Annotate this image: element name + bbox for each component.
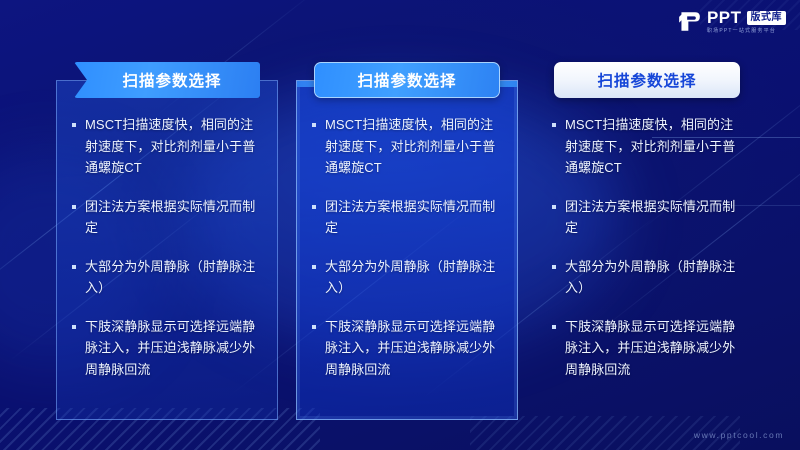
- list-item: 大部分为外周静脉（肘静脉注入）: [312, 256, 504, 299]
- bullet-dot-icon: [312, 325, 316, 329]
- list-item-text: 大部分为外周静脉（肘静脉注入）: [85, 256, 264, 299]
- card-2-header[interactable]: 扫描参数选择: [314, 62, 500, 98]
- card-group: 扫描参数选择 MSCT扫描速度快，相同的注射速度下，对比剂剂量小于普通螺旋CT …: [0, 62, 800, 427]
- card-1-header-title: 扫描参数选择: [112, 69, 221, 91]
- list-item: MSCT扫描速度快，相同的注射速度下，对比剂剂量小于普通螺旋CT: [312, 114, 504, 179]
- bullet-dot-icon: [552, 325, 556, 329]
- list-item-text: 大部分为外周静脉（肘静脉注入）: [565, 256, 744, 299]
- list-item: 下肢深静脉显示可选择远端静脉注入，并压迫浅静脉减少外周静脉回流: [552, 316, 744, 381]
- footer-watermark: www.pptcool.com: [694, 430, 784, 440]
- logo-badge: 版式库: [747, 11, 787, 25]
- list-item: 团注法方案根据实际情况而制定: [552, 196, 744, 239]
- bullet-dot-icon: [312, 205, 316, 209]
- list-item-text: MSCT扫描速度快，相同的注射速度下，对比剂剂量小于普通螺旋CT: [325, 114, 504, 179]
- logo-subtitle: 职场PPT一站式服务平台: [707, 29, 776, 34]
- logo-primary-row: PPT 版式库: [707, 9, 786, 26]
- bullet-dot-icon: [552, 205, 556, 209]
- card-2-header-title: 扫描参数选择: [357, 69, 456, 91]
- bullet-dot-icon: [72, 325, 76, 329]
- list-item-text: 团注法方案根据实际情况而制定: [85, 196, 264, 239]
- card-1: 扫描参数选择 MSCT扫描速度快，相同的注射速度下，对比剂剂量小于普通螺旋CT …: [56, 62, 278, 420]
- list-item-text: 下肢深静脉显示可选择远端静脉注入，并压迫浅静脉减少外周静脉回流: [85, 316, 264, 381]
- list-item-text: MSCT扫描速度快，相同的注射速度下，对比剂剂量小于普通螺旋CT: [565, 114, 744, 179]
- slide-canvas: PPT 版式库 职场PPT一站式服务平台 扫描参数选择 MSCT扫描速度快，相同…: [0, 0, 800, 450]
- list-item: 团注法方案根据实际情况而制定: [72, 196, 264, 239]
- list-item: MSCT扫描速度快，相同的注射速度下，对比剂剂量小于普通螺旋CT: [552, 114, 744, 179]
- card-3-bullet-list: MSCT扫描速度快，相同的注射速度下，对比剂剂量小于普通螺旋CT 团注法方案根据…: [536, 114, 758, 397]
- list-item: 下肢深静脉显示可选择远端静脉注入，并压迫浅静脉减少外周静脉回流: [312, 316, 504, 381]
- ppt-logo-mark-icon: [678, 10, 701, 33]
- bullet-dot-icon: [312, 265, 316, 269]
- card-1-bullet-list: MSCT扫描速度快，相同的注射速度下，对比剂剂量小于普通螺旋CT 团注法方案根据…: [56, 114, 278, 397]
- bullet-dot-icon: [552, 123, 556, 127]
- brand-logo: PPT 版式库 职场PPT一站式服务平台: [678, 9, 786, 34]
- list-item: 下肢深静脉显示可选择远端静脉注入，并压迫浅静脉减少外周静脉回流: [72, 316, 264, 381]
- bullet-dot-icon: [552, 265, 556, 269]
- logo-name: PPT: [707, 9, 742, 26]
- list-item-text: 下肢深静脉显示可选择远端静脉注入，并压迫浅静脉减少外周静脉回流: [565, 316, 744, 381]
- list-item: 团注法方案根据实际情况而制定: [312, 196, 504, 239]
- list-item-text: 下肢深静脉显示可选择远端静脉注入，并压迫浅静脉减少外周静脉回流: [325, 316, 504, 381]
- list-item: 大部分为外周静脉（肘静脉注入）: [552, 256, 744, 299]
- card-2: 扫描参数选择 MSCT扫描速度快，相同的注射速度下，对比剂剂量小于普通螺旋CT …: [296, 62, 518, 420]
- bullet-dot-icon: [72, 265, 76, 269]
- bullet-dot-icon: [72, 205, 76, 209]
- logo-text-group: PPT 版式库 职场PPT一站式服务平台: [707, 9, 786, 34]
- bullet-dot-icon: [312, 123, 316, 127]
- bullet-dot-icon: [72, 123, 76, 127]
- list-item-text: 团注法方案根据实际情况而制定: [565, 196, 744, 239]
- list-item: 大部分为外周静脉（肘静脉注入）: [72, 256, 264, 299]
- list-item-text: 大部分为外周静脉（肘静脉注入）: [325, 256, 504, 299]
- card-3: 扫描参数选择 MSCT扫描速度快，相同的注射速度下，对比剂剂量小于普通螺旋CT …: [536, 62, 758, 420]
- list-item-text: MSCT扫描速度快，相同的注射速度下，对比剂剂量小于普通螺旋CT: [85, 114, 264, 179]
- list-item: MSCT扫描速度快，相同的注射速度下，对比剂剂量小于普通螺旋CT: [72, 114, 264, 179]
- card-2-bullet-list: MSCT扫描速度快，相同的注射速度下，对比剂剂量小于普通螺旋CT 团注法方案根据…: [296, 114, 518, 397]
- list-item-text: 团注法方案根据实际情况而制定: [325, 196, 504, 239]
- card-1-header[interactable]: 扫描参数选择: [74, 62, 260, 98]
- card-3-header[interactable]: 扫描参数选择: [554, 62, 740, 98]
- card-3-header-title: 扫描参数选择: [597, 69, 696, 91]
